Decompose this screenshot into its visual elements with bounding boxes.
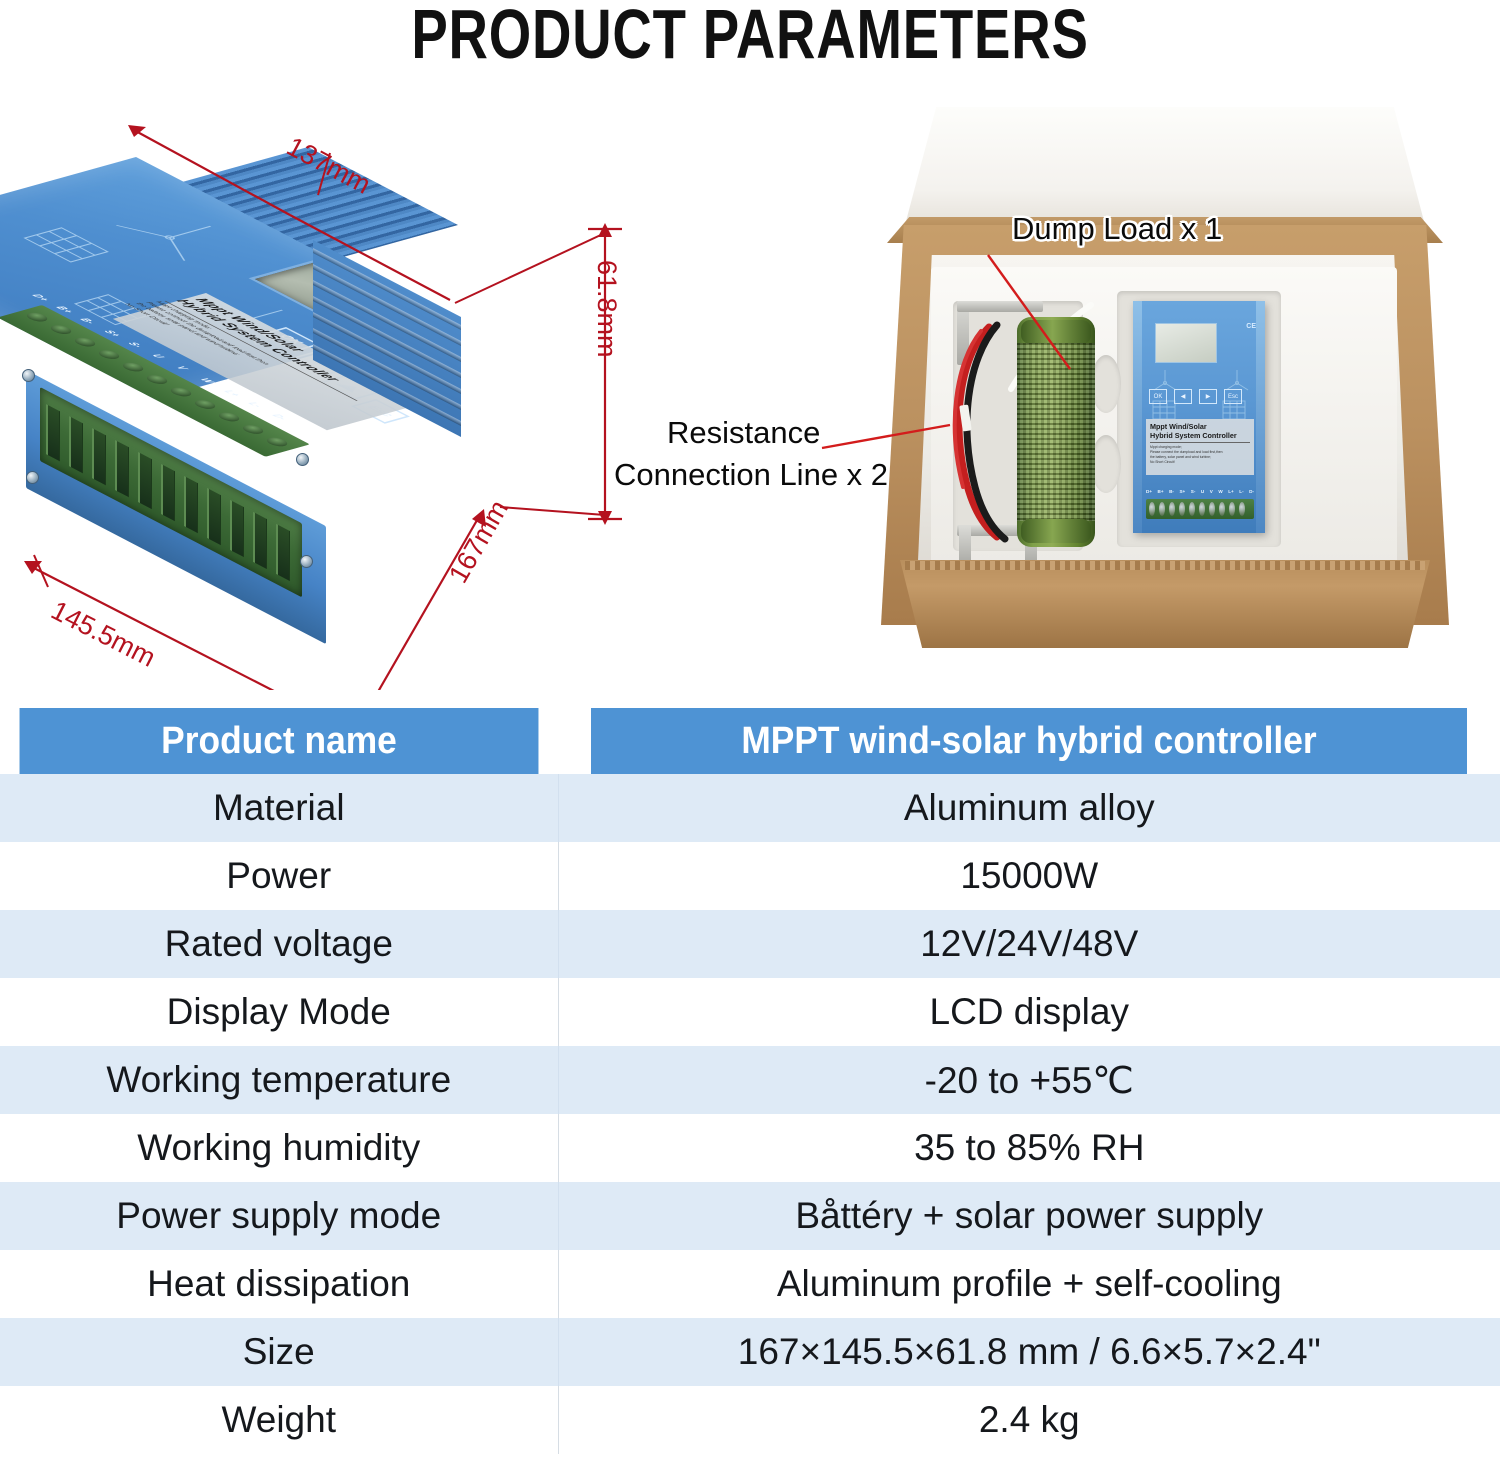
table-row: Power 15000W	[0, 842, 1500, 910]
table-body: Material Aluminum alloy Power 15000W Rat…	[0, 774, 1500, 1454]
dump-load-callout: Dump Load x 1	[1012, 211, 1222, 247]
product-parameters-page: PRODUCT PARAMETERS	[0, 0, 1500, 1460]
row-value-heat-dissipation: Aluminum profile + self-cooling	[558, 1250, 1500, 1318]
row-value-weight: 2.4 kg	[558, 1386, 1500, 1454]
table-header-row: Product name MPPT wind-solar hybrid cont…	[0, 708, 1500, 774]
specification-table: Product name MPPT wind-solar hybrid cont…	[0, 708, 1500, 1454]
row-value-rated-voltage: 12V/24V/48V	[558, 910, 1500, 978]
row-key-working-temperature: Working temperature	[0, 1046, 558, 1114]
row-value-display-mode: LCD display	[558, 978, 1500, 1046]
row-value-power: 15000W	[558, 842, 1500, 910]
row-key-power: Power	[0, 842, 558, 910]
page-title: PRODUCT PARAMETERS	[165, 0, 1335, 74]
table-row: Material Aluminum alloy	[0, 774, 1500, 842]
callout-leaders	[660, 95, 1500, 690]
header-product-name: Product name	[20, 708, 539, 774]
row-value-material: Aluminum alloy	[558, 774, 1500, 842]
controller-dimension-photo: CE OK Esc Mppt Wind/Solar	[0, 95, 660, 690]
header-product-value: MPPT wind-solar hybrid controller	[591, 708, 1467, 774]
row-key-display-mode: Display Mode	[0, 978, 558, 1046]
row-key-material: Material	[0, 774, 558, 842]
table-row: Size 167×145.5×61.8 mm / 6.6×5.7×2.4"	[0, 1318, 1500, 1386]
product-photos: CE OK Esc Mppt Wind/Solar	[0, 95, 1500, 690]
resistance-callout-line1: Resistance	[667, 415, 820, 451]
table-row: Power supply mode Båttéry + solar power …	[0, 1182, 1500, 1250]
table-row: Display Mode LCD display	[0, 978, 1500, 1046]
table-row: Rated voltage 12V/24V/48V	[0, 910, 1500, 978]
table-row: Working humidity 35 to 85% RH	[0, 1114, 1500, 1182]
row-value-power-supply-mode: Båttéry + solar power supply	[558, 1182, 1500, 1250]
table-row: Heat dissipation Aluminum profile + self…	[0, 1250, 1500, 1318]
row-key-size: Size	[0, 1318, 558, 1386]
row-key-weight: Weight	[0, 1386, 558, 1454]
package-contents-photo: CE OK ◀ ▶ Esc	[660, 95, 1500, 690]
row-key-heat-dissipation: Heat dissipation	[0, 1250, 558, 1318]
table-row: Working temperature -20 to +55℃	[0, 1046, 1500, 1114]
row-key-working-humidity: Working humidity	[0, 1114, 558, 1182]
row-key-power-supply-mode: Power supply mode	[0, 1182, 558, 1250]
table-row: Weight 2.4 kg	[0, 1386, 1500, 1454]
resistance-callout-line2: Connection Line x 2	[614, 457, 888, 493]
dimension-61-8mm: 61.8mm	[591, 260, 622, 358]
row-value-working-humidity: 35 to 85% RH	[558, 1114, 1500, 1182]
row-value-working-temperature: -20 to +55℃	[558, 1046, 1500, 1114]
row-key-rated-voltage: Rated voltage	[0, 910, 558, 978]
row-value-size: 167×145.5×61.8 mm / 6.6×5.7×2.4"	[558, 1318, 1500, 1386]
